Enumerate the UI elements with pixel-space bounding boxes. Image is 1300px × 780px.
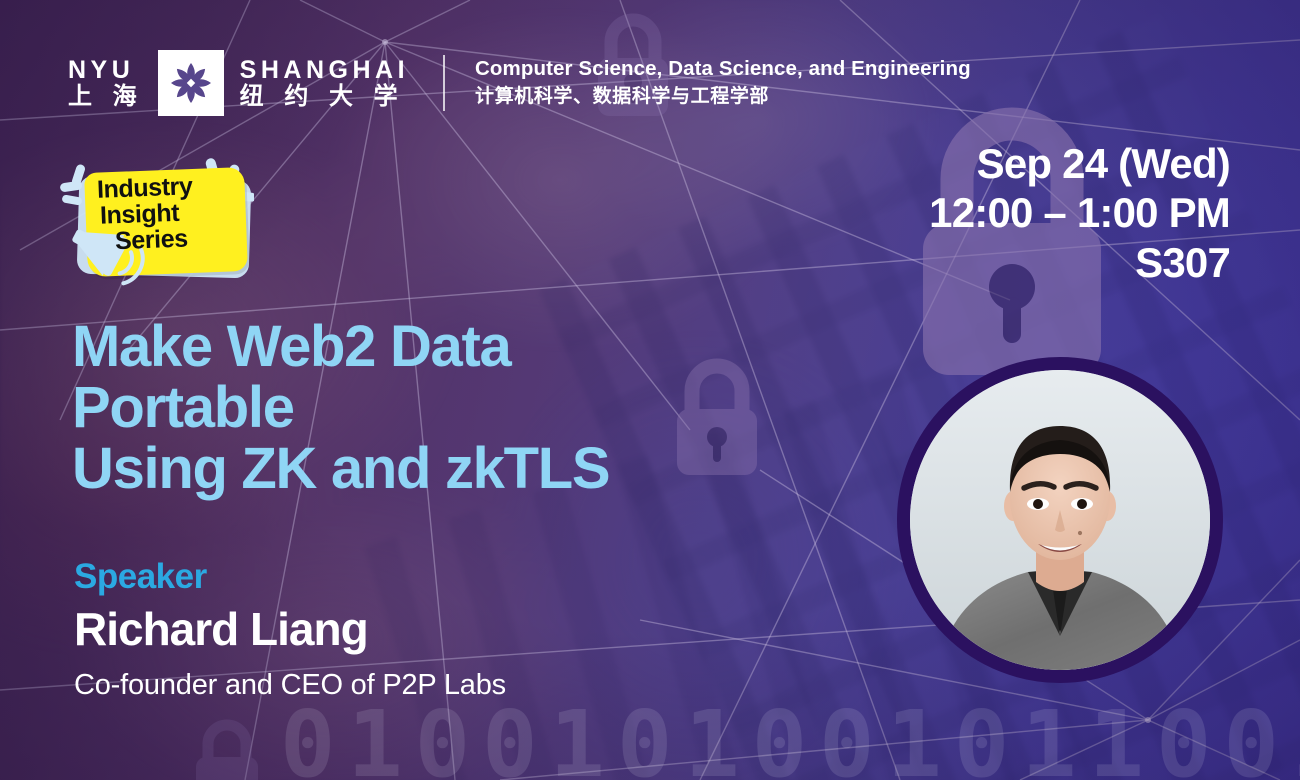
- speaker-role: Co-founder and CEO of P2P Labs: [74, 669, 506, 702]
- logo-shanghai-en: SHANGHAI: [240, 56, 409, 84]
- event-location: S307: [929, 239, 1230, 288]
- event-date: Sep 24 (Wed): [929, 140, 1230, 189]
- nyu-torch-flower-icon: [158, 50, 224, 116]
- avatar: [897, 357, 1223, 683]
- header: NYU 上 海: [68, 50, 971, 116]
- department-name-cn: 计算机科学、数据科学与工程学部: [475, 84, 971, 110]
- title-line-1: Make Web2 Data: [72, 316, 732, 377]
- binary-watermark: 0100101001011001: [280, 691, 1300, 780]
- logo-nyu-en: NYU: [68, 56, 134, 84]
- department-name: Computer Science, Data Science, and Engi…: [475, 56, 971, 110]
- logo-shanghai-cn: 纽 约 大 学: [240, 84, 409, 111]
- speaker-name: Richard Liang: [74, 602, 368, 656]
- speaker-portrait: [910, 370, 1210, 670]
- event-poster: 0100101001011001: [0, 0, 1300, 780]
- logo-nyu-cn: 上 海: [68, 84, 144, 111]
- page-title: Make Web2 Data Portable Using ZK and zkT…: [72, 316, 732, 500]
- event-details: Sep 24 (Wed) 12:00 – 1:00 PM S307: [929, 140, 1230, 288]
- title-line-3: Using ZK and zkTLS: [72, 438, 732, 499]
- badge-text: Industry Insight Series: [97, 171, 250, 255]
- speaker-label: Speaker: [74, 557, 207, 597]
- lock-icon: [190, 714, 264, 780]
- event-time: 12:00 – 1:00 PM: [929, 189, 1230, 238]
- industry-insight-series-badge: Industry Insight Series: [60, 160, 280, 292]
- header-divider: [443, 55, 445, 111]
- department-name-en: Computer Science, Data Science, and Engi…: [475, 56, 971, 82]
- nyu-shanghai-logo: NYU 上 海: [68, 50, 409, 116]
- logo-left-text: NYU 上 海: [68, 56, 144, 111]
- title-line-2: Portable: [72, 377, 732, 438]
- logo-right-text: SHANGHAI 纽 约 大 学: [240, 56, 409, 111]
